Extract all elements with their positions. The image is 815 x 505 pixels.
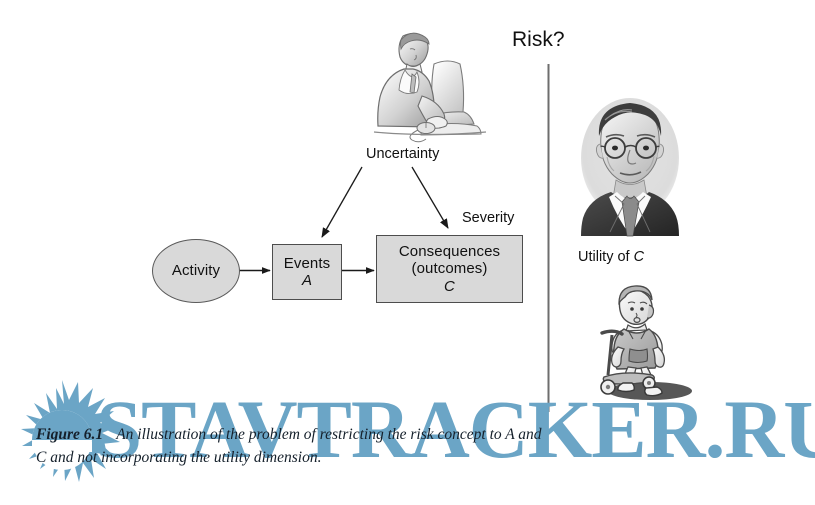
node-activity-label: Activity xyxy=(172,262,220,279)
figure-number: Figure 6.1 xyxy=(36,426,103,443)
node-events[interactable]: Events A xyxy=(272,244,342,300)
child-with-scooter-icon xyxy=(592,283,700,405)
node-consequences-symbol: C xyxy=(399,278,500,295)
risk-question-label: Risk? xyxy=(512,28,565,52)
node-activity[interactable]: Activity xyxy=(152,239,240,303)
utility-label-symbol: C xyxy=(634,249,644,265)
figure-caption-line-1: An illustration of the problem of restri… xyxy=(116,426,541,443)
node-events-label: Events A xyxy=(284,255,330,290)
figure-caption-line-2: C and not incorporating the utility dime… xyxy=(36,449,321,466)
node-consequences-label: Consequences (outcomes) C xyxy=(399,243,500,295)
node-events-symbol: A xyxy=(284,272,330,289)
node-consequences[interactable]: Consequences (outcomes) C xyxy=(376,235,523,303)
utility-of-c-label: Utility of C xyxy=(578,249,644,265)
uncertainty-label: Uncertainty xyxy=(366,146,439,162)
figure-caption: Figure 6.1An illustration of the problem… xyxy=(36,423,796,469)
man-portrait-icon xyxy=(567,92,693,240)
man-at-computer-icon xyxy=(372,22,490,144)
utility-label-prefix: Utility of xyxy=(578,249,634,265)
figure-canvas: Risk? Activity Events A xyxy=(0,0,815,505)
severity-label: Severity xyxy=(462,210,514,226)
